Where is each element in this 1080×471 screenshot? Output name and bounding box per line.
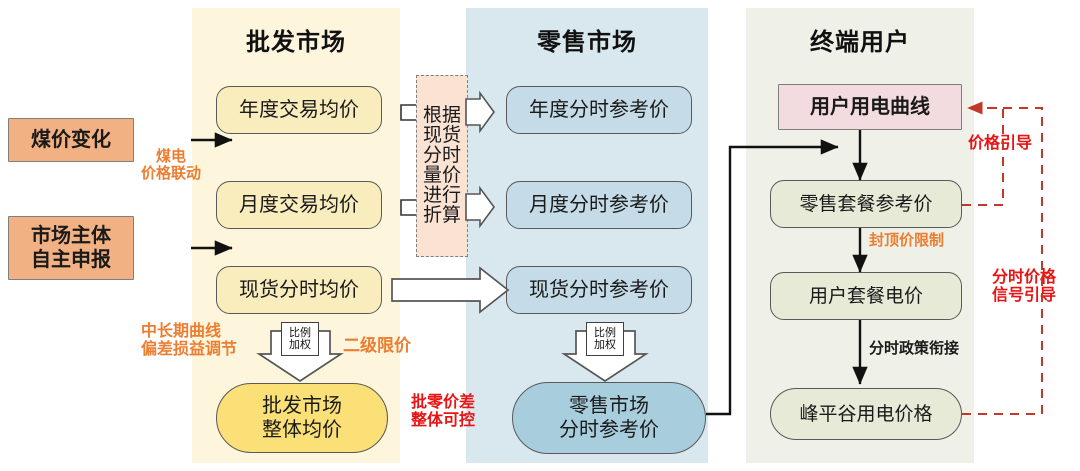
panel-title-retail: 零售市场 (466, 22, 708, 57)
node-label: 市场主体 自主申报 (31, 224, 111, 271)
conversion-line-4: 量价 (423, 166, 461, 186)
anno-price-guidance: 价格引导 (968, 134, 1032, 152)
conversion-line-5: 进行 (423, 186, 461, 206)
node-annual-tou-ref-price[interactable]: 年度分时参考价 (506, 86, 692, 134)
conversion-line-6: 折算 (423, 206, 461, 226)
conversion-line-2: 现货 (423, 126, 461, 146)
node-market-self-declare[interactable]: 市场主体 自主申报 (8, 216, 134, 280)
anno-midlong-curve-deviation: 中长期曲线 偏差损益调节 (141, 322, 237, 359)
node-coal-price-change[interactable]: 煤价变化 (8, 118, 134, 162)
conversion-line-3: 分时 (423, 146, 461, 166)
panel-title-terminal: 终端用户 (746, 22, 974, 57)
node-label: 现货分时均价 (239, 278, 359, 302)
anno-tou-policy-link: 分时政策衔接 (869, 340, 959, 357)
panel-title-wholesale: 批发市场 (192, 22, 400, 57)
node-label: 月度分时参考价 (529, 193, 669, 217)
node-monthly-avg-price[interactable]: 月度交易均价 (216, 181, 382, 229)
node-annual-avg-price[interactable]: 年度交易均价 (216, 86, 382, 134)
conversion-line-1: 根据 (423, 106, 461, 126)
anno-secondary-price-cap: 二级限价 (343, 337, 411, 357)
node-label: 煤价变化 (31, 128, 111, 152)
box-spot-tou-conversion: 根据 现货 分时 量价 进行 折算 (416, 75, 468, 257)
bracket-monthly-to-conversion (401, 200, 416, 215)
diagram-canvas: 批发市场 零售市场 终端用户 (0, 0, 1080, 471)
label-box-weighted-ratio-retail: 比例 加权 (586, 322, 624, 356)
node-label: 批发市场 整体均价 (262, 394, 342, 441)
node-user-load-curve[interactable]: 用户用电曲线 (778, 84, 962, 130)
node-label: 峰平谷用电价格 (799, 403, 932, 425)
node-label: 月度交易均价 (239, 193, 359, 217)
node-monthly-tou-ref-price[interactable]: 月度分时参考价 (506, 181, 692, 229)
anno-wholesale-retail-spread: 批零价差 整体可控 (411, 393, 475, 430)
node-spot-tou-ref-price[interactable]: 现货分时参考价 (506, 266, 692, 314)
label-box-weighted-ratio-wholesale: 比例 加权 (281, 322, 319, 356)
node-label: 年度分时参考价 (529, 98, 669, 122)
label-line-2: 加权 (289, 339, 311, 351)
label-line-2: 加权 (594, 339, 616, 351)
anno-tou-price-signal-guidance: 分时价格 信号引导 (992, 268, 1056, 305)
node-user-plan-tariff[interactable]: 用户套餐电价 (770, 272, 962, 320)
anno-coal-power-linkage: 煤电 价格联动 (141, 148, 201, 183)
node-label: 用户用电曲线 (810, 95, 930, 119)
anno-price-cap-limit: 封顶价限制 (869, 232, 944, 249)
node-spot-tou-avg-price[interactable]: 现货分时均价 (216, 266, 382, 314)
node-label: 零售市场 分时参考价 (559, 394, 659, 441)
node-label: 现货分时参考价 (529, 278, 669, 302)
node-retail-tou-ref-price[interactable]: 零售市场 分时参考价 (512, 382, 706, 454)
node-wholesale-overall-avg[interactable]: 批发市场 整体均价 (216, 383, 388, 453)
dashed-arrow-tou-signal-guidance (962, 108, 1042, 414)
node-label: 零售套餐参考价 (799, 193, 932, 215)
bracket-annual-to-conversion (401, 105, 416, 120)
node-retail-plan-ref-price[interactable]: 零售套餐参考价 (770, 180, 962, 228)
node-label: 用户套餐电价 (809, 285, 923, 307)
node-peak-flat-valley-price[interactable]: 峰平谷用电价格 (770, 388, 962, 440)
node-label: 年度交易均价 (239, 98, 359, 122)
